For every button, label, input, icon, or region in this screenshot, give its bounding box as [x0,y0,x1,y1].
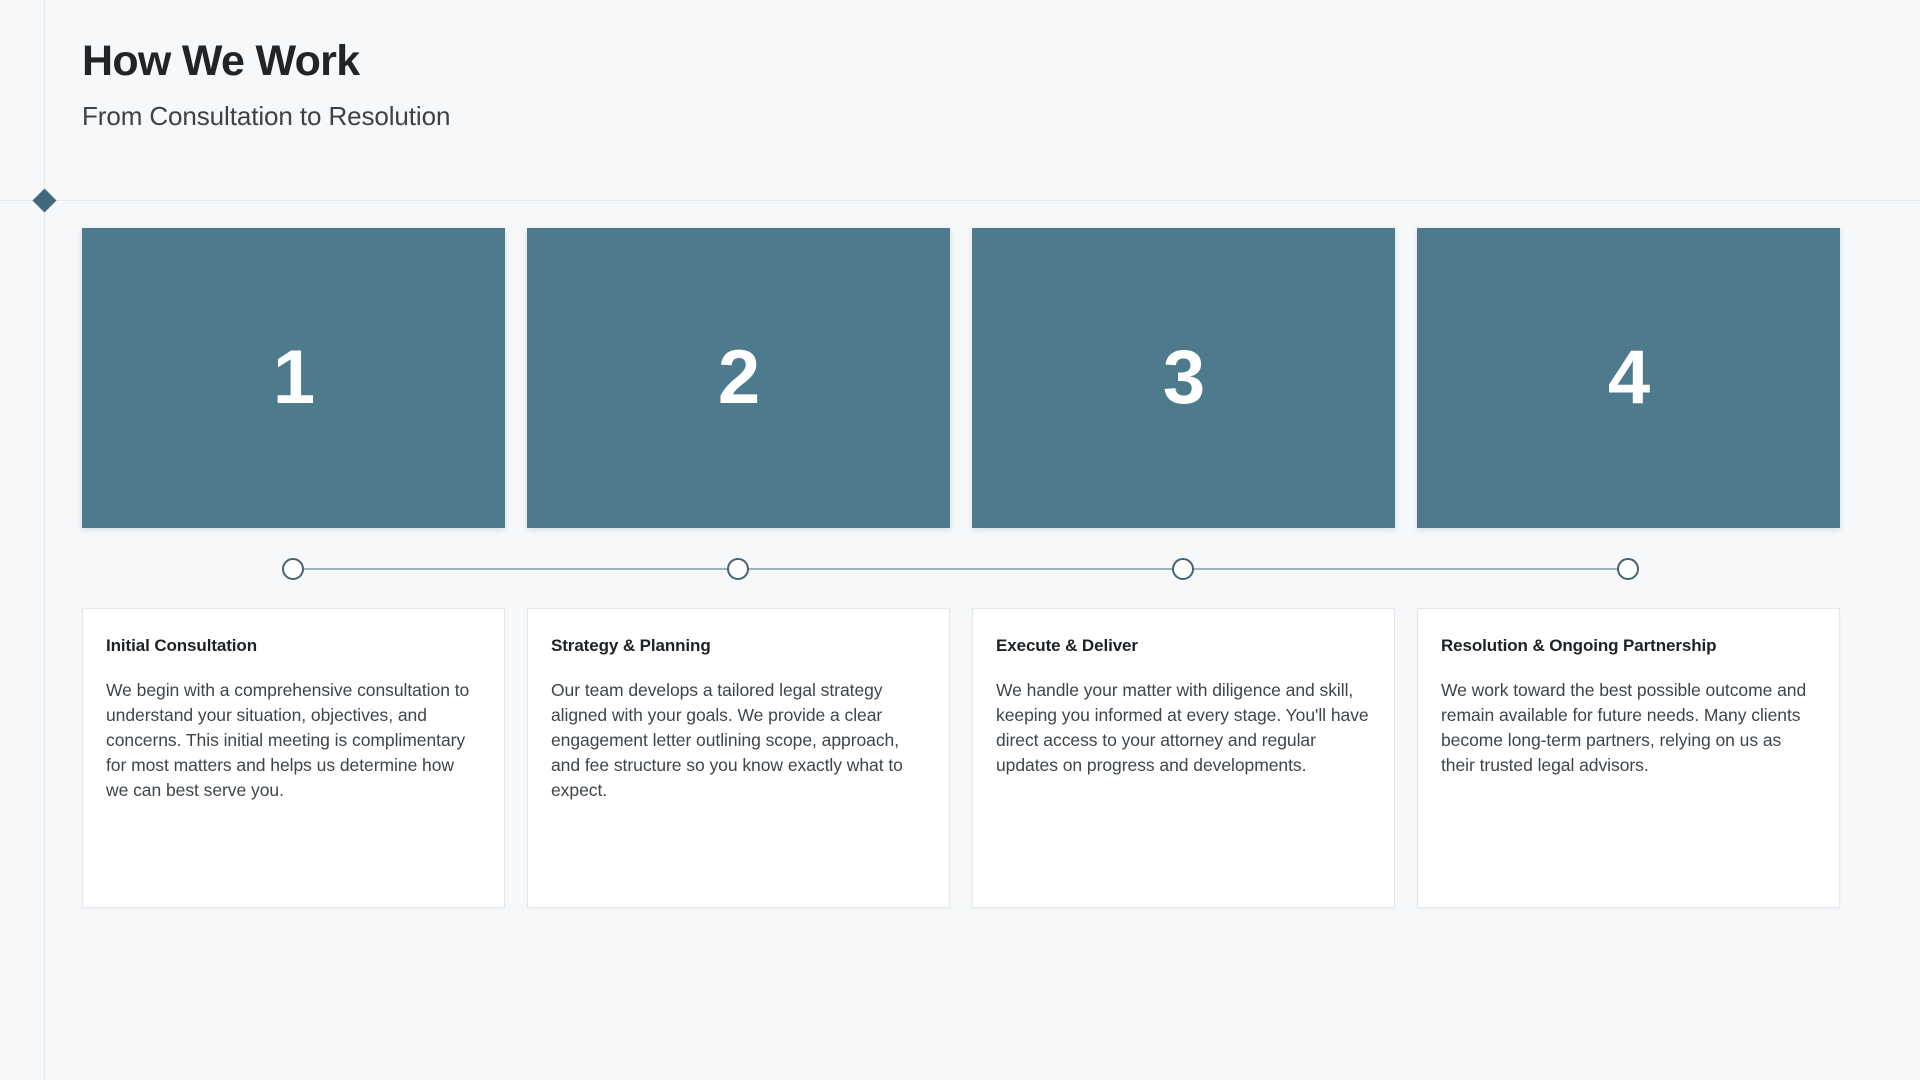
page-header: How We Work From Consultation to Resolut… [82,38,1282,133]
left-vertical-rule [44,0,45,1080]
step-panel-4[interactable]: 4 [1417,228,1840,528]
detail-card-title-2: Strategy & Planning [551,636,926,656]
detail-card-3[interactable]: Execute & Deliver We handle your matter … [972,608,1395,908]
detail-card-4[interactable]: Resolution & Ongoing Partnership We work… [1417,608,1840,908]
detail-card-body-4: We work toward the best possible outcome… [1441,678,1816,777]
detail-card-body-2: Our team develops a tailored legal strat… [551,678,926,802]
detail-card-title-4: Resolution & Ongoing Partnership [1441,636,1816,656]
step-number-4: 4 [1608,340,1649,416]
detail-card-2[interactable]: Strategy & Planning Our team develops a … [527,608,950,908]
timeline-connector [82,568,1840,570]
detail-card-title-3: Execute & Deliver [996,636,1371,656]
header-divider [0,200,1920,201]
step-detail-cards: Initial Consultation We begin with a com… [82,608,1840,908]
step-number-1: 1 [273,340,314,416]
detail-card-body-1: We begin with a comprehensive consultati… [106,678,481,802]
timeline-track [293,568,1628,570]
timeline-node-icon-4[interactable] [1617,558,1639,580]
detail-card-title-1: Initial Consultation [106,636,481,656]
diamond-node-icon [32,188,56,212]
detail-card-1[interactable]: Initial Consultation We begin with a com… [82,608,505,908]
step-number-3: 3 [1163,340,1204,416]
page-subtitle: From Consultation to Resolution [82,100,1282,133]
page-title: How We Work [82,38,1282,84]
step-panel-3[interactable]: 3 [972,228,1395,528]
step-panel-1[interactable]: 1 [82,228,505,528]
detail-card-body-3: We handle your matter with diligence and… [996,678,1371,777]
step-number-2: 2 [718,340,759,416]
timeline-node-icon-2[interactable] [727,558,749,580]
timeline-node-icon-3[interactable] [1172,558,1194,580]
step-number-panels: 1 2 3 4 [82,228,1840,528]
timeline-node-icon-1[interactable] [282,558,304,580]
how-we-work-page: { "header": { "title": "How We Work", "s… [0,0,1920,1080]
step-panel-2[interactable]: 2 [527,228,950,528]
